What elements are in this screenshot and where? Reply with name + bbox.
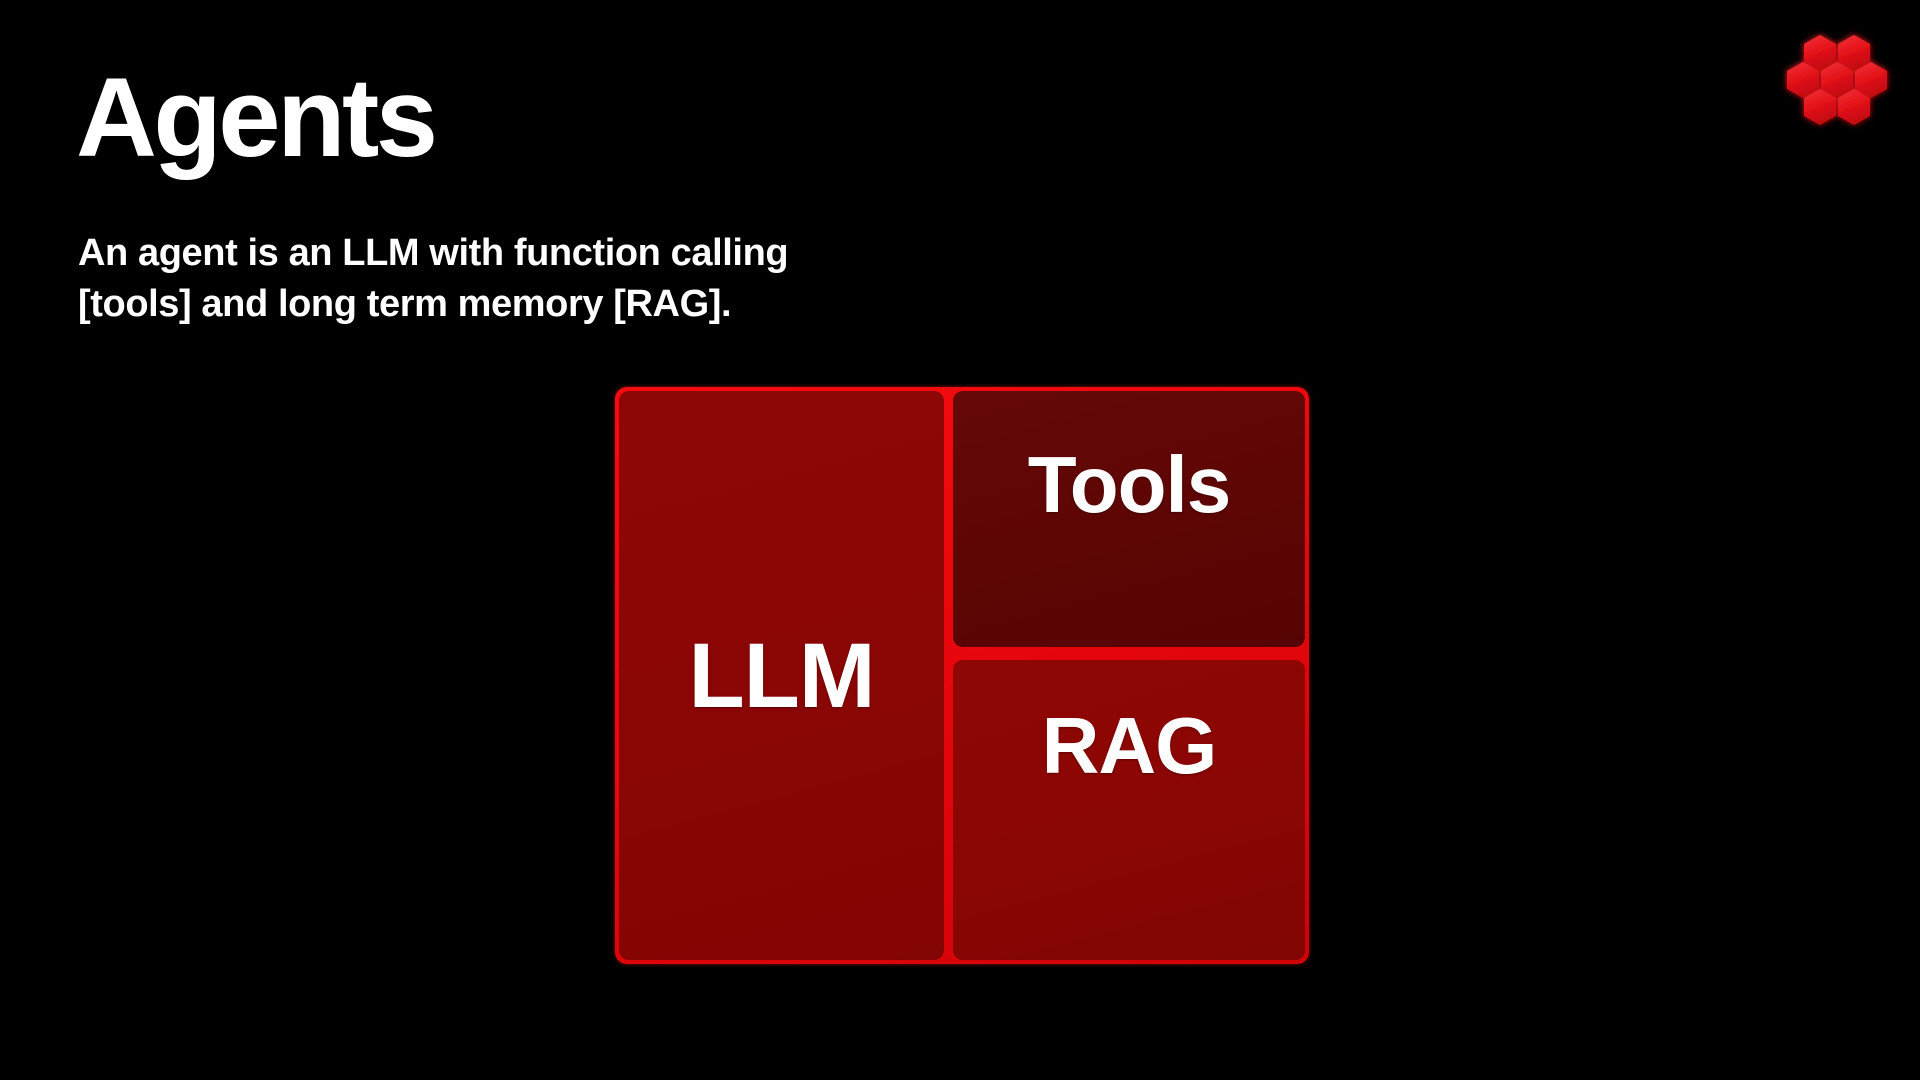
panel-rag[interactable]: RAG — [953, 660, 1305, 960]
page-title: Agents — [76, 62, 435, 174]
page-subtitle: An agent is an LLM with function calling… — [78, 228, 788, 329]
slide-canvas: Agents An agent is an LLM with function … — [0, 0, 1920, 1080]
panel-tools[interactable]: Tools — [953, 391, 1305, 647]
panel-tools-label: Tools — [1028, 445, 1230, 525]
agent-architecture-diagram: LLM Tools RAG — [615, 387, 1309, 964]
panel-right-column: Tools RAG — [953, 391, 1305, 960]
hexagon-flower-logo — [1778, 26, 1896, 144]
panel-llm[interactable]: LLM — [619, 391, 944, 960]
panel-rag-label: RAG — [1042, 706, 1217, 786]
panel-llm-label: LLM — [688, 630, 874, 722]
